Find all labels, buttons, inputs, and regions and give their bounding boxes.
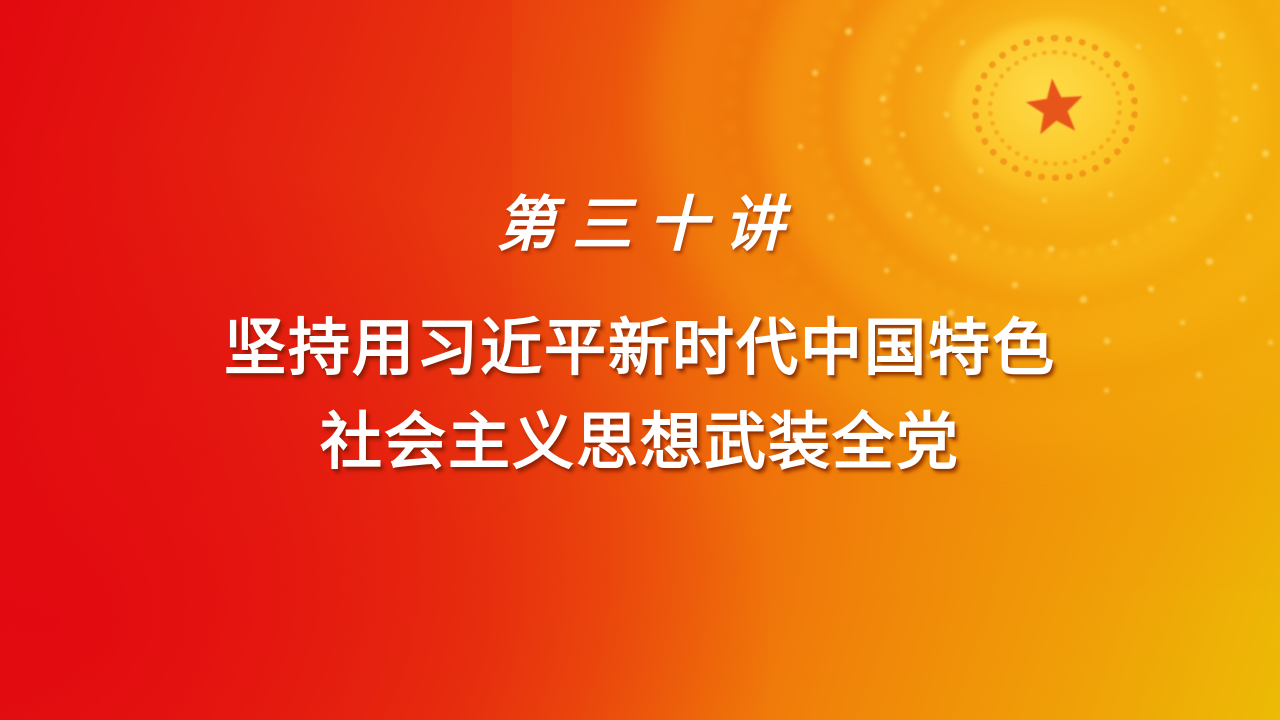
emblem-bead-ring-inner — [988, 50, 1122, 166]
emblem-inner-plate — [951, 19, 1159, 197]
emblem-bead-ring-outer — [972, 35, 1138, 181]
headline-line-2: 社会主义思想武装全党 — [0, 412, 1280, 474]
red-star-icon — [1021, 73, 1089, 141]
lecture-number-title: 第三十讲 — [0, 186, 1280, 265]
emblem-scallop-ring-middle — [809, 0, 1280, 321]
slide-canvas: 第三十讲 坚持用习近平新时代中国特色 社会主义思想武装全党 — [0, 0, 1280, 720]
headline-line-1: 坚持用习近平新时代中国特色 — [0, 318, 1280, 380]
background-gold-glow — [512, 0, 1280, 590]
emblem-ring-outer-3 — [755, 0, 1280, 368]
